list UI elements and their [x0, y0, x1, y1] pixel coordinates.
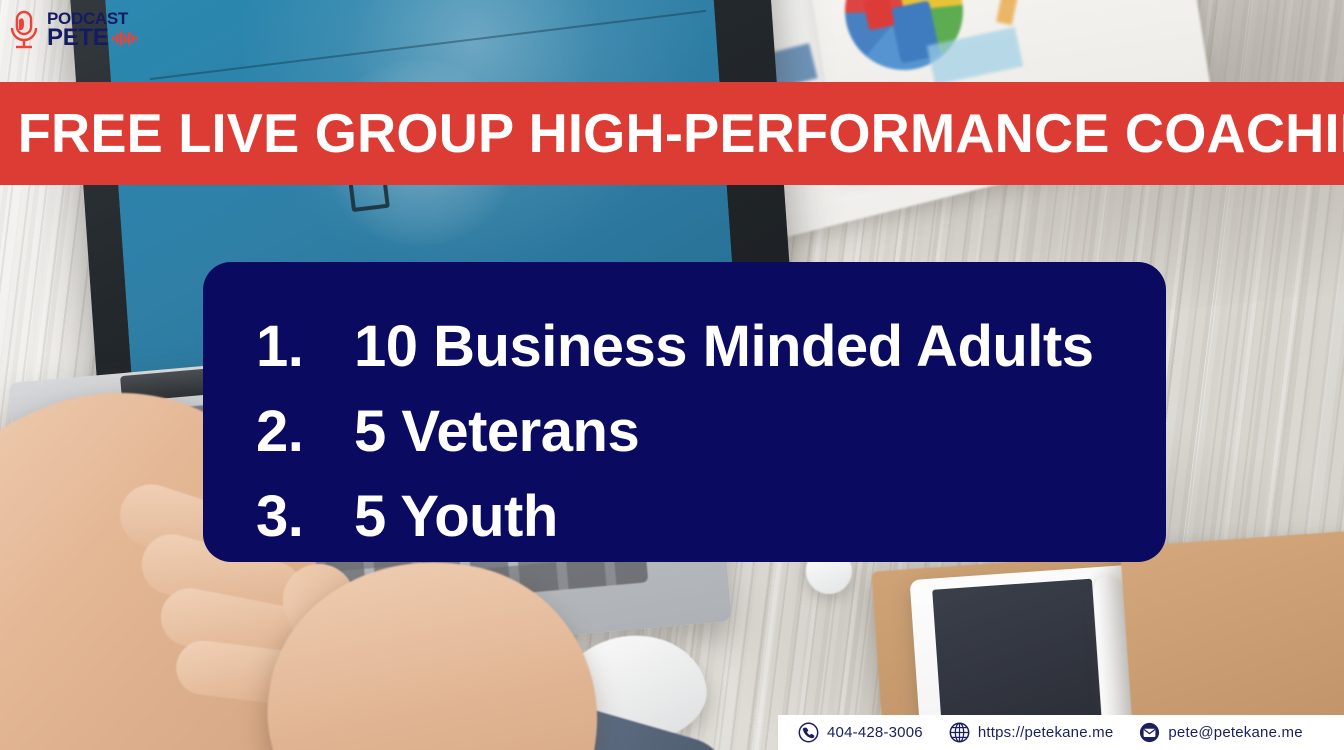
list-item-label: 10 Business Minded Adults: [354, 304, 1094, 389]
contact-email[interactable]: pete@petekane.me: [1139, 722, 1302, 743]
contact-website-label: https://petekane.me: [978, 724, 1114, 741]
phone-icon: [798, 722, 819, 743]
contact-email-label: pete@petekane.me: [1168, 724, 1302, 741]
microphone-icon: [8, 10, 40, 50]
globe-icon: [949, 722, 970, 743]
audio-waveform-icon: [112, 31, 138, 46]
list-item-label: 5 Youth: [354, 474, 558, 559]
list-item: 1. 10 Business Minded Adults: [256, 304, 1166, 389]
headline-banner: FREE LIVE GROUP HIGH-PERFORMANCE COACHIN…: [0, 82, 1344, 185]
audience-list-card: 1. 10 Business Minded Adults 2. 5 Vetera…: [203, 262, 1166, 562]
logo-pete-text: PETE: [47, 27, 108, 49]
email-icon: [1139, 722, 1160, 743]
list-item-number: 2.: [256, 389, 354, 474]
contact-website[interactable]: https://petekane.me: [949, 722, 1114, 743]
logo-line-pete: PETE: [47, 27, 138, 49]
headline-title: FREE LIVE GROUP HIGH-PERFORMANCE COACHIN…: [0, 106, 1344, 161]
list-item: 2. 5 Veterans: [256, 389, 1166, 474]
list-item: 3. 5 Youth: [256, 474, 1166, 559]
audience-list: 1. 10 Business Minded Adults 2. 5 Vetera…: [256, 304, 1166, 559]
slide-canvas: PODCAST PETE FREE LIVE GROUP: [0, 0, 1344, 750]
list-item-number: 3.: [256, 474, 354, 559]
list-item-label: 5 Veterans: [354, 389, 639, 474]
contact-phone-label: 404-428-3006: [827, 724, 923, 741]
logo-wordmark: PODCAST PETE: [47, 11, 138, 49]
chart-block-red: [863, 0, 895, 30]
brand-logo[interactable]: PODCAST PETE: [8, 10, 138, 50]
contact-footer-bar: 404-428-3006 https://petekane.me pete@pe…: [778, 715, 1344, 750]
list-item-number: 1.: [256, 304, 354, 389]
contact-phone[interactable]: 404-428-3006: [798, 722, 923, 743]
